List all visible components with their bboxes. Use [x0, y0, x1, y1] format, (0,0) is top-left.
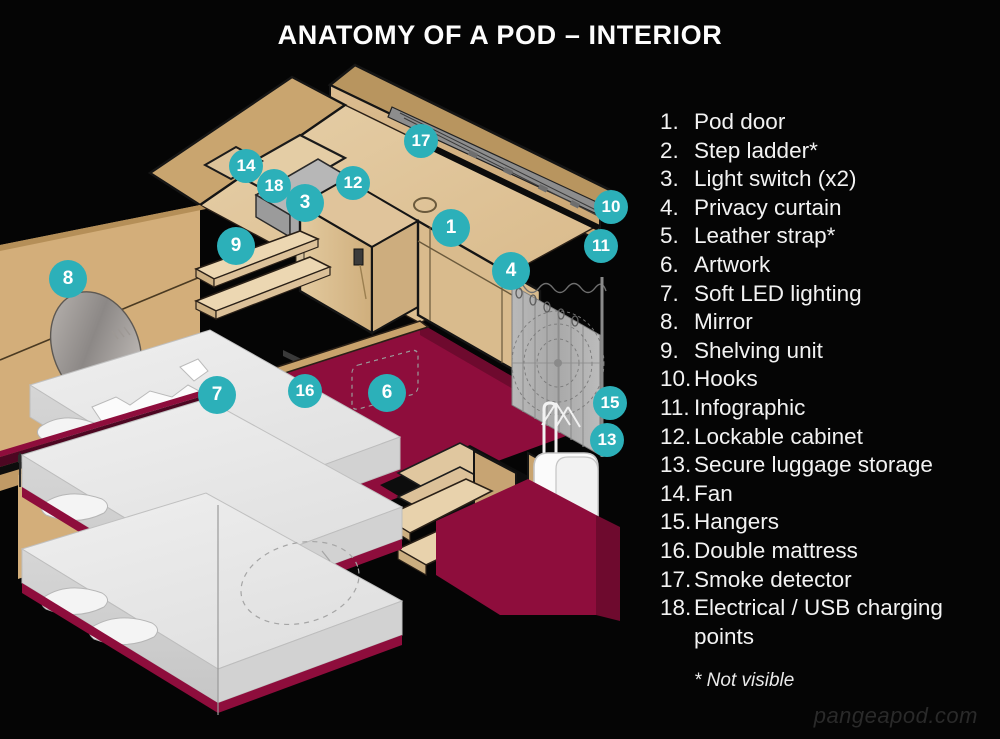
legend-item-label: Privacy curtain	[694, 194, 995, 223]
legend-item-label: Fan	[694, 480, 995, 509]
legend-item-label: Electrical / USB charging points	[694, 594, 995, 651]
legend-item-number: 5.	[660, 222, 694, 251]
legend-item: 18.Electrical / USB charging points	[660, 594, 995, 651]
legend-item-number: 15.	[660, 508, 694, 537]
legend-item-label: Pod door	[694, 108, 995, 137]
legend-item-label: Step ladder*	[694, 137, 995, 166]
legend-item-number: 1.	[660, 108, 694, 137]
legend-item: 5.Leather strap*	[660, 222, 995, 251]
legend-footnote: * Not visible	[694, 667, 995, 696]
legend-item-label: Hangers	[694, 508, 995, 537]
marker-4[interactable]: 4	[492, 252, 530, 290]
legend-item: 10.Hooks	[660, 365, 995, 394]
marker-11[interactable]: 11	[584, 229, 618, 263]
legend-item-number: 18.	[660, 594, 694, 623]
marker-6[interactable]: 6	[368, 374, 406, 412]
marker-10[interactable]: 10	[594, 190, 628, 224]
poster-root: ANATOMY OF A POD – INTERIOR	[0, 0, 1000, 739]
legend-item-number: 11.	[660, 394, 694, 423]
legend-item-label: Mirror	[694, 308, 995, 337]
legend-item: 16.Double mattress	[660, 537, 995, 566]
legend-item: 11.Infographic	[660, 394, 995, 423]
legend-item-number: 3.	[660, 165, 694, 194]
legend-item-number: 12.	[660, 423, 694, 452]
pod-isometric-drawing	[0, 55, 660, 739]
legend-item-label: Secure luggage storage	[694, 451, 995, 480]
pod-illustration: 1346789101112131415161718	[0, 55, 660, 739]
marker-7[interactable]: 7	[198, 376, 236, 414]
legend-item-label: Light switch (x2)	[694, 165, 995, 194]
legend-item-number: 7.	[660, 280, 694, 309]
legend-item: 6.Artwork	[660, 251, 995, 280]
legend-item: 2.Step ladder*	[660, 137, 995, 166]
marker-16[interactable]: 16	[288, 374, 322, 408]
legend-item-label: Smoke detector	[694, 566, 995, 595]
legend-item-number: 16.	[660, 537, 694, 566]
legend-item: 13.Secure luggage storage	[660, 451, 995, 480]
marker-8[interactable]: 8	[49, 260, 87, 298]
marker-18[interactable]: 18	[257, 169, 291, 203]
legend-item: 4.Privacy curtain	[660, 194, 995, 223]
legend-item-number: 9.	[660, 337, 694, 366]
marker-12[interactable]: 12	[336, 166, 370, 200]
legend-item: 15.Hangers	[660, 508, 995, 537]
legend-item-label: Shelving unit	[694, 337, 995, 366]
legend-item-label: Lockable cabinet	[694, 423, 995, 452]
marker-15[interactable]: 15	[593, 386, 627, 420]
legend-item-number: 14.	[660, 480, 694, 509]
legend-item: 12.Lockable cabinet	[660, 423, 995, 452]
marker-13[interactable]: 13	[590, 423, 624, 457]
marker-17[interactable]: 17	[404, 124, 438, 158]
page-title: ANATOMY OF A POD – INTERIOR	[0, 20, 1000, 51]
legend-item-label: Leather strap*	[694, 222, 995, 251]
legend-item: 14.Fan	[660, 480, 995, 509]
legend-item: 7.Soft LED lighting	[660, 280, 995, 309]
legend-item-label: Hooks	[694, 365, 995, 394]
legend-list: 1.Pod door2.Step ladder*3.Light switch (…	[660, 108, 995, 696]
legend-item-label: Artwork	[694, 251, 995, 280]
legend-item: 9.Shelving unit	[660, 337, 995, 366]
legend-item: 1.Pod door	[660, 108, 995, 137]
legend-item-label: Double mattress	[694, 537, 995, 566]
legend-item-number: 13.	[660, 451, 694, 480]
legend-item-number: 4.	[660, 194, 694, 223]
marker-9[interactable]: 9	[217, 227, 255, 265]
legend-item-label: Soft LED lighting	[694, 280, 995, 309]
legend-item: 3.Light switch (x2)	[660, 165, 995, 194]
legend-item-number: 2.	[660, 137, 694, 166]
legend-item-number: 8.	[660, 308, 694, 337]
marker-1[interactable]: 1	[432, 209, 470, 247]
legend-item-label: Infographic	[694, 394, 995, 423]
legend-item-number: 10.	[660, 365, 694, 394]
legend-item: 17.Smoke detector	[660, 566, 995, 595]
legend-item-number: 6.	[660, 251, 694, 280]
legend-item: 8.Mirror	[660, 308, 995, 337]
legend-item-number: 17.	[660, 566, 694, 595]
site-watermark: pangeapod.com	[814, 703, 978, 729]
marker-3[interactable]: 3	[286, 184, 324, 222]
